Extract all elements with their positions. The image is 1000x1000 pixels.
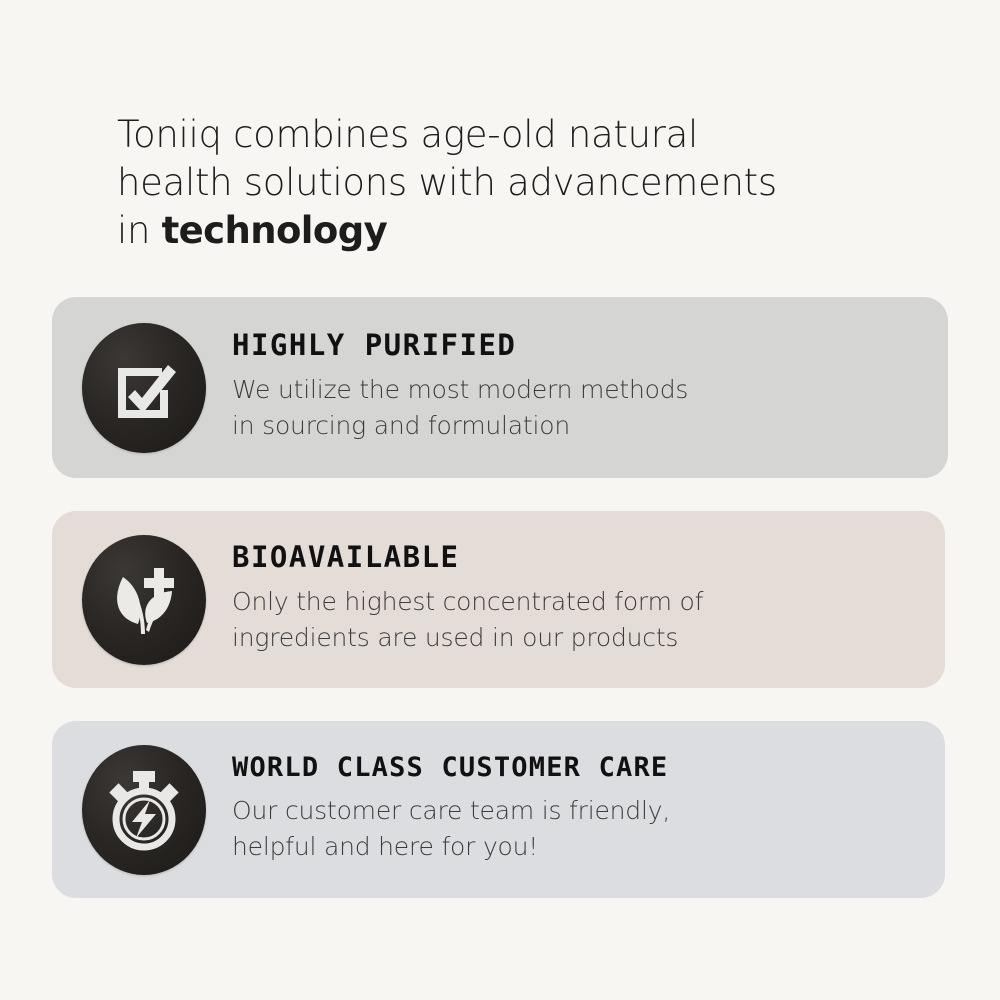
headline-line-2: health solutions with advancements (117, 161, 777, 204)
card-description-line-1: Our customer care team is friendly, (232, 793, 925, 829)
card-title: BIOAVAILABLE (232, 543, 925, 572)
card-description-line-1: We utilize the most modern methods (232, 372, 928, 408)
icon-container (82, 538, 206, 662)
card-description-line-1: Only the highest concentrated form of (232, 584, 925, 620)
card-title: WORLD CLASS CUSTOMER CARE (232, 754, 925, 781)
card-description: We utilize the most modern methods in so… (232, 372, 928, 444)
page-title: Toniiq combines age-old natural health s… (117, 111, 917, 255)
headline-line-3-prefix: in (117, 209, 162, 252)
headline-line-1: Toniiq combines age-old natural (117, 113, 698, 156)
card-text-block: HIGHLY PURIFIED We utilize the most mode… (232, 331, 948, 444)
stopwatch-bolt-icon (82, 745, 206, 875)
icon-container (82, 326, 206, 450)
feature-card-world-class-customer-care: WORLD CLASS CUSTOMER CARE Our customer c… (52, 721, 945, 898)
card-description-line-2: ingredients are used in our products (232, 620, 925, 656)
promo-infographic: Toniiq combines age-old natural health s… (0, 0, 1000, 1000)
card-description-line-2: helpful and here for you! (232, 829, 925, 865)
leaf-plus-icon (82, 535, 206, 665)
checkbox-check-icon (82, 323, 206, 453)
card-description: Only the highest concentrated form of in… (232, 584, 925, 656)
icon-container (82, 748, 206, 872)
feature-card-list: HIGHLY PURIFIED We utilize the most mode… (52, 297, 948, 898)
card-text-block: BIOAVAILABLE Only the highest concentrat… (232, 543, 945, 656)
card-text-block: WORLD CLASS CUSTOMER CARE Our customer c… (232, 754, 945, 865)
card-description-line-2: in sourcing and formulation (232, 408, 928, 444)
card-title: HIGHLY PURIFIED (232, 331, 928, 360)
feature-card-bioavailable: BIOAVAILABLE Only the highest concentrat… (52, 511, 945, 688)
headline-emphasis-technology: technology (162, 209, 388, 252)
card-description: Our customer care team is friendly, help… (232, 793, 925, 865)
feature-card-highly-purified: HIGHLY PURIFIED We utilize the most mode… (52, 297, 948, 478)
